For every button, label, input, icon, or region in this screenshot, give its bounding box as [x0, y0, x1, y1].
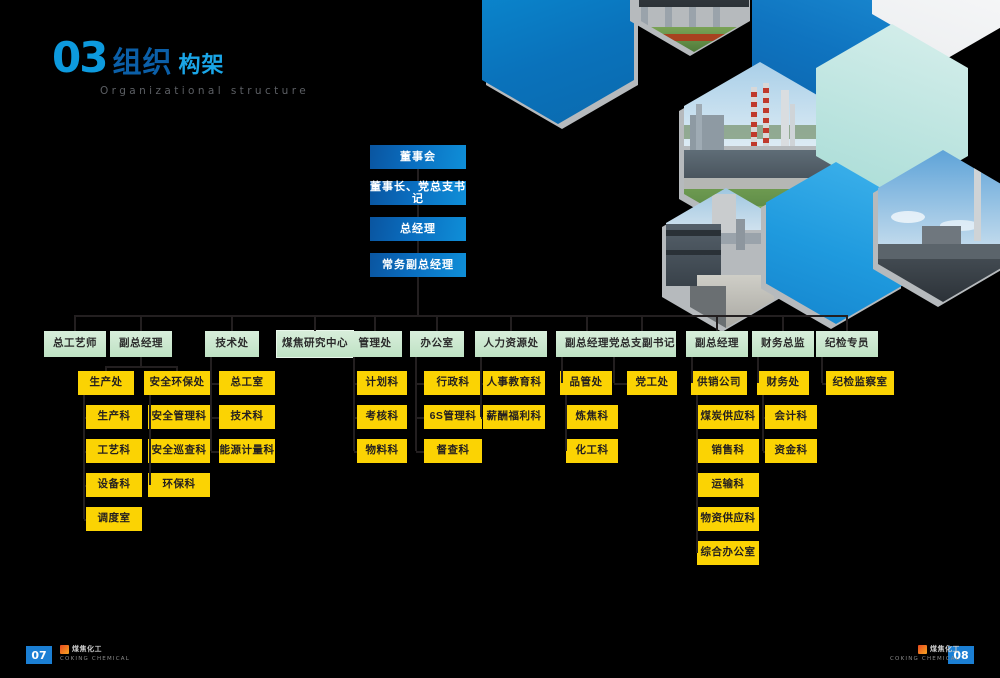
org-node-management_dept[interactable]: 管理处	[348, 331, 402, 357]
connector-tick-supervision_sec	[416, 451, 424, 453]
org-node-funds_sec[interactable]: 资金科	[765, 439, 817, 463]
connector-spine-safety_env_dept	[149, 395, 151, 485]
footer-logo-tagline-left: COKING CHEMICAL	[60, 656, 130, 662]
connector-tick-energy_metering_sec	[211, 451, 219, 453]
footer-logo-left: 煤焦化工 COKING CHEMICAL	[60, 644, 130, 662]
connector-tick-party_work_dept	[614, 383, 627, 385]
org-node-production_sec[interactable]: 生产科	[86, 405, 142, 429]
org-node-dispatch_office[interactable]: 调度室	[86, 507, 142, 531]
org-node-transport_sec[interactable]: 运输科	[697, 473, 759, 497]
org-node-hr_dept[interactable]: 人力资源处	[475, 331, 547, 357]
org-node-planning_sec[interactable]: 计划科	[357, 371, 407, 395]
connector-bracket-deputy_gm_1	[106, 366, 177, 368]
connector-stub-deputy_gm_2	[586, 315, 588, 331]
page-number-left: 07	[26, 646, 52, 664]
org-node-salary_welfare_sec[interactable]: 薪酬福利科	[483, 405, 545, 429]
connector-spine-deputy_gm_3	[691, 357, 693, 383]
org-node-discipline_office[interactable]: 纪检监察室	[826, 371, 894, 395]
org-node-env_protect_sec[interactable]: 环保科	[148, 473, 210, 497]
connector-trunk-horizontal	[75, 315, 847, 317]
org-node-production_dept[interactable]: 生产处	[78, 371, 134, 395]
connector-spine-quality_dept	[565, 395, 567, 451]
footer-logo-name-left: 煤焦化工	[72, 644, 102, 654]
connector-stub-deputy_gm_3	[716, 315, 718, 331]
connector-spine-management_dept	[353, 357, 355, 451]
org-node-general_office[interactable]: 办公室	[410, 331, 464, 357]
connector-spine-production_dept	[83, 395, 85, 519]
org-node-safety_env_dept[interactable]: 安全环保处	[144, 371, 210, 395]
org-node-safety_mgmt_sec[interactable]: 安全管理科	[148, 405, 210, 429]
org-node-chemical_sec[interactable]: 化工科	[566, 439, 618, 463]
org-node-chief_eng_office[interactable]: 总工室	[219, 371, 275, 395]
org-node-accounting_sec[interactable]: 会计科	[765, 405, 817, 429]
connector-tick-funds_sec	[763, 451, 765, 453]
connector-top-2	[417, 205, 419, 217]
org-node-comprehensive_office[interactable]: 综合办公室	[697, 541, 759, 565]
org-node-equipment_sec[interactable]: 设备科	[86, 473, 142, 497]
brand-mark-icon	[60, 645, 69, 654]
connector-stub-management_dept	[374, 315, 376, 331]
connector-spine-supply_marketing_co	[696, 395, 698, 553]
connector-spine-general_office	[415, 357, 417, 451]
org-node-chairman[interactable]: 董事长、党总支书记	[370, 181, 466, 205]
connector-tick-salary_welfare_sec	[481, 417, 483, 419]
org-node-exec_deputy_gm[interactable]: 常务副总经理	[370, 253, 466, 277]
org-node-discipline_officer[interactable]: 纪检专员	[816, 331, 878, 357]
connector-tick-dispatch_office	[84, 519, 86, 521]
org-node-gm[interactable]: 总经理	[370, 217, 466, 241]
section-title-english: Organizational structure	[100, 85, 332, 97]
connector-stub-chief_engineer	[74, 315, 76, 331]
section-number: 03	[52, 38, 106, 78]
connector-spine-cfo	[757, 357, 759, 383]
org-node-admin_sec[interactable]: 行政科	[424, 371, 482, 395]
footer-bar: 07 煤焦化工 COKING CHEMICAL 08 煤焦化工 COKING C…	[0, 624, 1000, 678]
connector-tick-chief_eng_office	[211, 383, 219, 385]
org-node-tech_dept[interactable]: 技术处	[205, 331, 259, 357]
hex-blue-1	[482, 0, 634, 124]
org-node-assessment_sec[interactable]: 考核科	[357, 405, 407, 429]
org-node-supervision_sec[interactable]: 督查科	[424, 439, 482, 463]
connector-stub-hr_dept	[510, 315, 512, 331]
connector-top-3	[417, 241, 419, 253]
connector-stub-coking_research_center	[314, 315, 316, 331]
section-title-main: 组织	[112, 49, 172, 78]
org-node-safety_patrol_sec[interactable]: 安全巡查科	[148, 439, 210, 463]
org-node-supply_marketing_co[interactable]: 供销公司	[691, 371, 747, 395]
section-title-sub: 构架	[178, 54, 224, 78]
connector-stub-cfo	[782, 315, 784, 331]
connector-spine-tech_dept	[210, 357, 212, 451]
connector-top-1	[417, 169, 419, 181]
org-node-party_deputy_secretary[interactable]: 党总支副书记	[608, 331, 676, 357]
org-node-deputy_gm_3[interactable]: 副总经理	[686, 331, 748, 357]
org-node-party_work_dept[interactable]: 党工处	[627, 371, 677, 395]
connector-spine-hr_dept	[480, 357, 482, 417]
org-node-energy_metering_sec[interactable]: 能源计量科	[219, 439, 275, 463]
footer-logo-tagline-right: COKING CHEMICAL	[890, 656, 960, 662]
org-node-material_sec[interactable]: 物料科	[357, 439, 407, 463]
org-node-six_s_mgmt_sec[interactable]: 6S管理科	[424, 405, 482, 429]
org-node-sales_sec[interactable]: 销售科	[697, 439, 759, 463]
page-title-block: 03 组织 构架 Organizational structure	[52, 38, 332, 108]
org-node-chief_engineer[interactable]: 总工艺师	[44, 331, 106, 357]
connector-tick-six_s_mgmt_sec	[416, 417, 424, 419]
connector-trunk-drop	[417, 277, 419, 315]
org-node-board[interactable]: 董事会	[370, 145, 466, 169]
slide-canvas: 03 组织 构架 Organizational structure 董事会董事长…	[0, 0, 1000, 678]
org-node-quality_dept[interactable]: 品管处	[560, 371, 612, 395]
connector-tick-discipline_office	[822, 383, 826, 385]
org-node-coking_research_center[interactable]: 煤焦研究中心	[277, 331, 353, 357]
connector-spine-party_deputy_secretary	[613, 357, 615, 383]
connector-spine-finance_dept	[762, 395, 764, 451]
org-node-finance_dept[interactable]: 财务处	[757, 371, 809, 395]
connector-drop-deputy_gm_1	[140, 357, 142, 366]
org-node-deputy_gm_1[interactable]: 副总经理	[110, 331, 172, 357]
brand-mark-icon-right	[918, 645, 927, 654]
org-node-coking_sec[interactable]: 炼焦科	[566, 405, 618, 429]
connector-stub-party_deputy_secretary	[641, 315, 643, 331]
connector-stub-deputy_gm_1	[140, 315, 142, 331]
org-node-cfo[interactable]: 财务总监	[752, 331, 814, 357]
connector-tick-admin_sec	[416, 383, 424, 385]
org-node-coal_supply_sec[interactable]: 煤炭供应科	[697, 405, 759, 429]
connector-spine-discipline_officer	[821, 357, 823, 383]
connector-tick-technology_sec	[211, 417, 219, 419]
hex-photo-entrance	[634, 0, 754, 52]
hex-photo-conveyor	[878, 150, 1000, 302]
org-node-technology_sec[interactable]: 技术科	[219, 405, 275, 429]
org-node-process_sec[interactable]: 工艺科	[86, 439, 142, 463]
connector-tick-material_sec	[354, 451, 357, 453]
footer-logo-right: 煤焦化工 COKING CHEMICAL	[890, 644, 960, 662]
org-node-material_supply_sec[interactable]: 物资供应科	[697, 507, 759, 531]
connector-stub-tech_dept	[231, 315, 233, 331]
connector-stub-discipline_officer	[846, 315, 848, 331]
connector-spine-deputy_gm_2	[561, 357, 563, 383]
connector-stub-general_office	[436, 315, 438, 331]
org-node-personnel_edu_sec[interactable]: 人事教育科	[483, 371, 545, 395]
footer-logo-name-right: 煤焦化工	[930, 644, 960, 654]
